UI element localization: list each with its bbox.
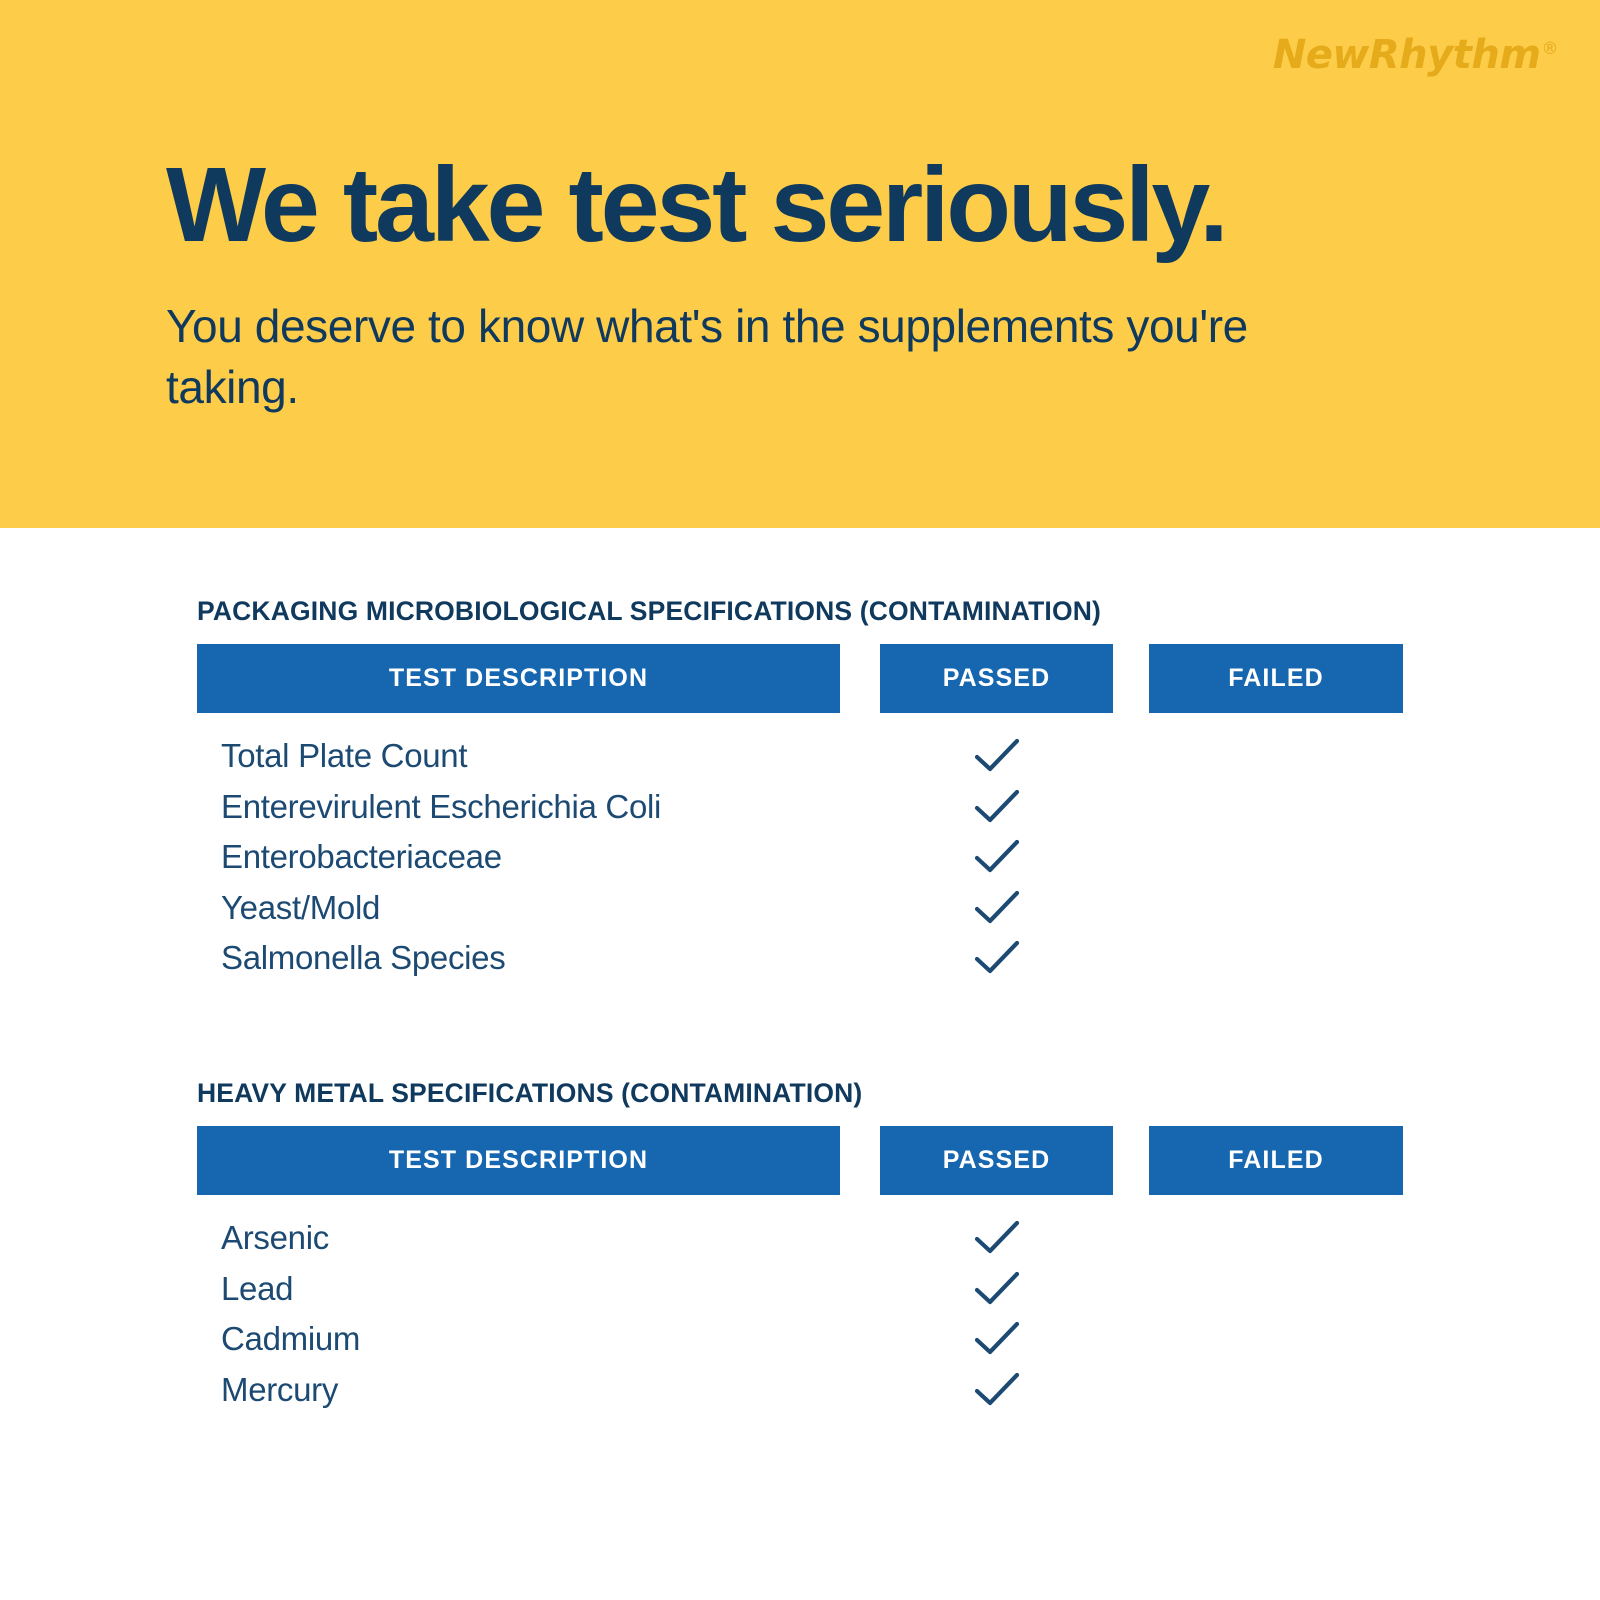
section-title-heavy-metal: HEAVY METAL SPECIFICATIONS (CONTAMINATIO… [197, 1078, 1403, 1109]
failed-cell [1149, 731, 1403, 782]
passed-cell [880, 1213, 1113, 1264]
table-body-heavy-metal: ArsenicLeadCadmiumMercury [197, 1213, 1403, 1415]
checkmark-icon [974, 890, 1020, 926]
failed-cell [1149, 1213, 1403, 1264]
table-header-microbiological: TEST DESCRIPTION PASSED FAILED [197, 644, 1403, 713]
test-description-cell: Enterevirulent Escherichia Coli [221, 782, 661, 833]
section-microbiological: PACKAGING MICROBIOLOGICAL SPECIFICATIONS… [197, 596, 1403, 984]
checkmark-icon [974, 1271, 1020, 1307]
checkmark-icon [974, 940, 1020, 976]
hero-banner: NewRhythm® We take test seriously. You d… [0, 0, 1600, 528]
table-row: Mercury [197, 1365, 1403, 1416]
test-description-cell: Total Plate Count [221, 731, 467, 782]
brand-logo: NewRhythm® [1273, 32, 1558, 78]
table-row: Enterevirulent Escherichia Coli [197, 782, 1403, 833]
test-description-cell: Arsenic [221, 1213, 329, 1264]
page-subtitle: You deserve to know what's in the supple… [166, 296, 1376, 417]
passed-cell [880, 731, 1113, 782]
passed-cell [880, 1314, 1113, 1365]
passed-cell [880, 782, 1113, 833]
failed-cell [1149, 1365, 1403, 1416]
checkmark-icon [974, 1372, 1020, 1408]
passed-cell [880, 1264, 1113, 1315]
column-header-test-description: TEST DESCRIPTION [197, 1126, 840, 1195]
checkmark-icon [974, 839, 1020, 875]
registered-trademark-icon: ® [1542, 39, 1559, 59]
test-description-cell: Mercury [221, 1365, 338, 1416]
table-header-heavy-metal: TEST DESCRIPTION PASSED FAILED [197, 1126, 1403, 1195]
table-row: Arsenic [197, 1213, 1403, 1264]
table-row: Lead [197, 1264, 1403, 1315]
table-row: Cadmium [197, 1314, 1403, 1365]
column-header-passed: PASSED [880, 644, 1113, 713]
failed-cell [1149, 782, 1403, 833]
failed-cell [1149, 832, 1403, 883]
checkmark-icon [974, 738, 1020, 774]
page-title: We take test seriously. [166, 150, 1226, 260]
infographic-page: NewRhythm® We take test seriously. You d… [0, 0, 1600, 1600]
checkmark-icon [974, 1220, 1020, 1256]
checkmark-icon [974, 1321, 1020, 1357]
column-header-failed: FAILED [1149, 644, 1403, 713]
table-body-microbiological: Total Plate CountEnterevirulent Escheric… [197, 731, 1403, 984]
checkmark-icon [974, 789, 1020, 825]
failed-cell [1149, 883, 1403, 934]
table-row: Total Plate Count [197, 731, 1403, 782]
failed-cell [1149, 1314, 1403, 1365]
passed-cell [880, 1365, 1113, 1416]
column-header-test-description: TEST DESCRIPTION [197, 644, 840, 713]
column-header-passed: PASSED [880, 1126, 1113, 1195]
section-heavy-metal: HEAVY METAL SPECIFICATIONS (CONTAMINATIO… [197, 1078, 1403, 1415]
test-description-cell: Salmonella Species [221, 933, 505, 984]
passed-cell [880, 883, 1113, 934]
test-description-cell: Yeast/Mold [221, 883, 380, 934]
test-description-cell: Lead [221, 1264, 293, 1315]
column-header-failed: FAILED [1149, 1126, 1403, 1195]
brand-name: NewRhythm [1273, 32, 1541, 78]
table-row: Yeast/Mold [197, 883, 1403, 934]
section-title-microbiological: PACKAGING MICROBIOLOGICAL SPECIFICATIONS… [197, 596, 1403, 627]
passed-cell [880, 933, 1113, 984]
failed-cell [1149, 1264, 1403, 1315]
failed-cell [1149, 933, 1403, 984]
passed-cell [880, 832, 1113, 883]
table-row: Enterobacteriaceae [197, 832, 1403, 883]
test-description-cell: Cadmium [221, 1314, 360, 1365]
table-row: Salmonella Species [197, 933, 1403, 984]
test-description-cell: Enterobacteriaceae [221, 832, 502, 883]
